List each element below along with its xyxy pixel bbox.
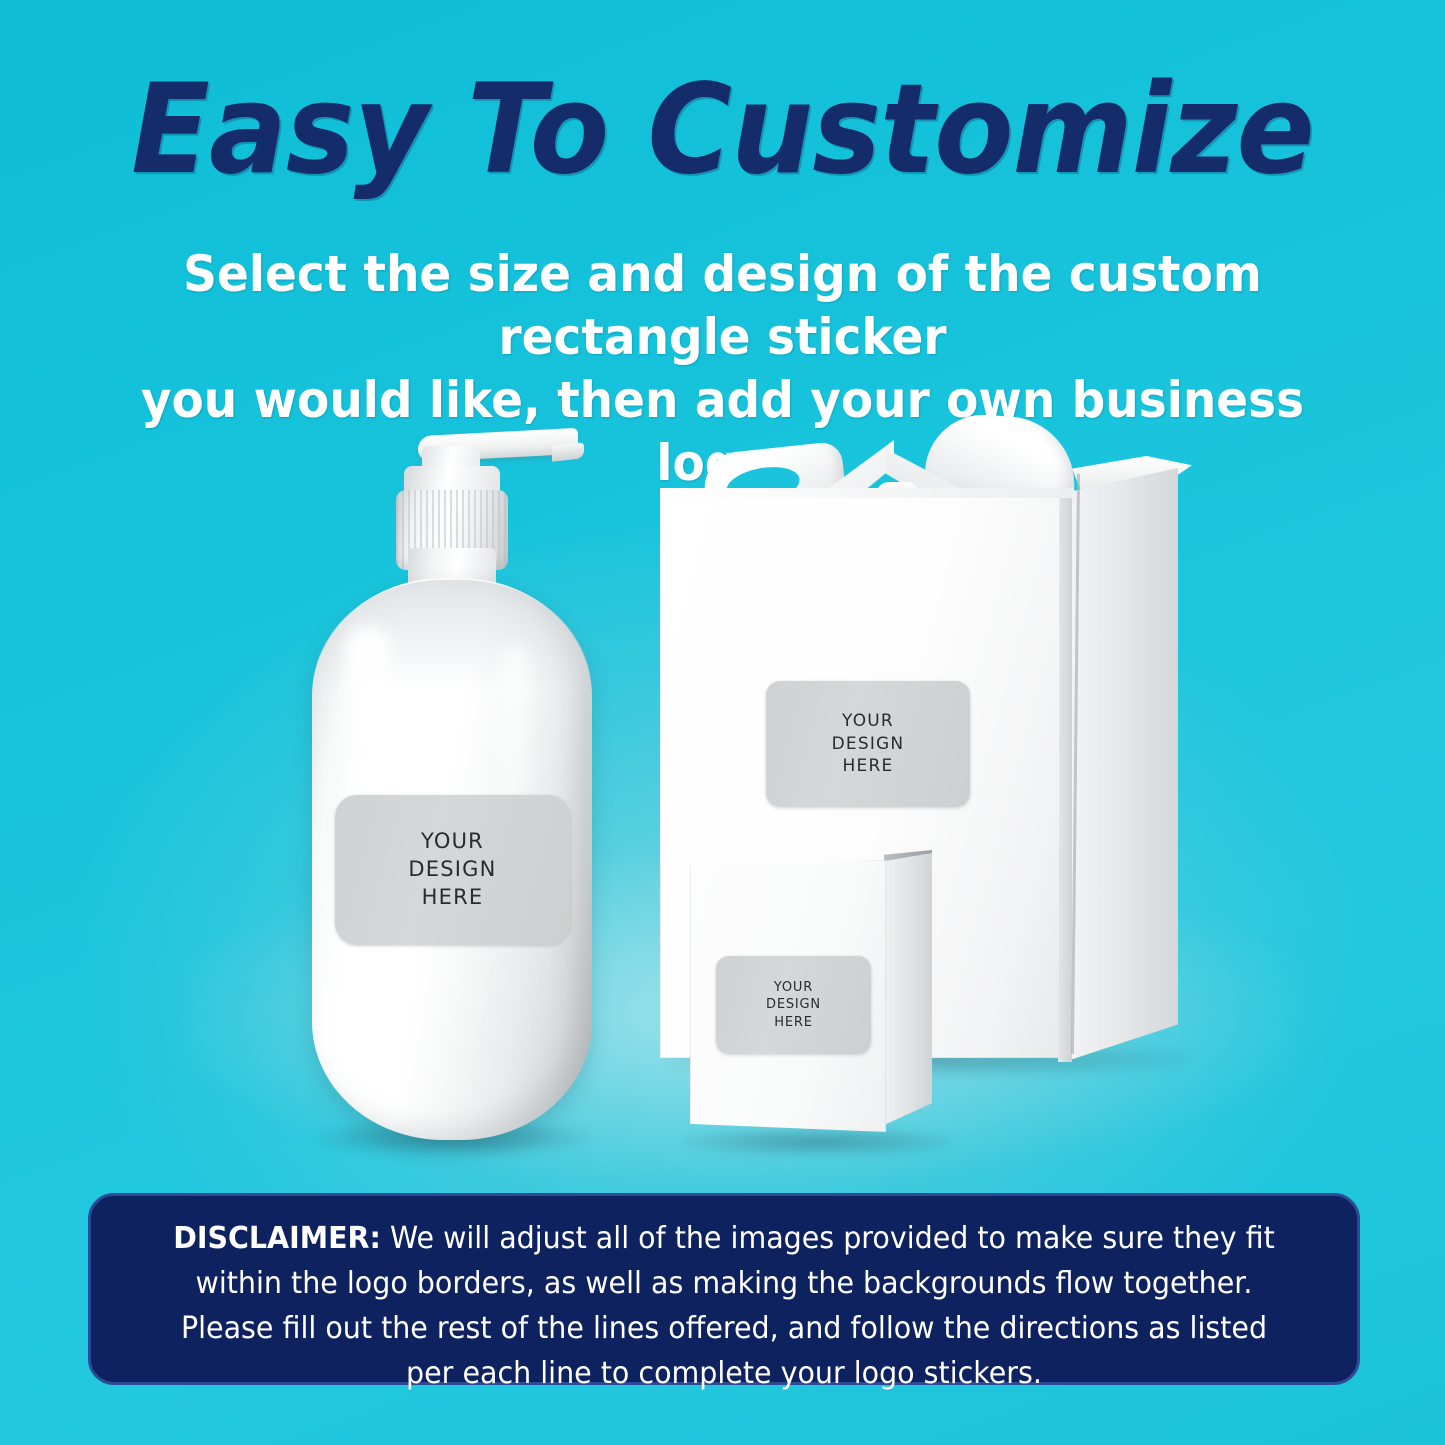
sticker-line-2: DESIGN [408,856,496,884]
disclaimer-label: DISCLAIMER: [173,1221,381,1256]
gift-box-lid-edge [1058,490,1072,1062]
page-title: Easy To Customize [51,58,1395,202]
gift-box-side-panel [1070,468,1178,1060]
sticker-bottle[interactable]: YOUR DESIGN HERE [335,795,570,945]
sticker-line-1: YOUR [766,979,821,996]
sticker-small-box[interactable]: YOUR DESIGN HERE [716,956,871,1054]
sticker-gift-box-text: YOUR DESIGN HERE [832,710,905,778]
promo-banner: Easy To Customize Select the size and de… [0,0,1445,1445]
small-box-side-panel [884,853,932,1125]
sticker-line-3: HERE [766,1014,821,1031]
disclaimer-box: DISCLAIMER: We will adjust all of the im… [88,1193,1360,1385]
sticker-line-2: DESIGN [766,996,821,1013]
sticker-line-3: HERE [832,755,905,778]
gift-box-top-edge [660,488,1074,498]
small-box-shadow [684,1128,952,1156]
sticker-line-1: YOUR [832,710,905,733]
product-scene [0,380,1445,1190]
sticker-line-2: DESIGN [832,733,905,756]
sticker-small-box-text: YOUR DESIGN HERE [766,979,821,1031]
sticker-line-1: YOUR [408,828,496,856]
sticker-line-3: HERE [408,884,496,912]
sticker-gift-box[interactable]: YOUR DESIGN HERE [766,681,970,807]
sticker-bottle-text: YOUR DESIGN HERE [408,828,496,912]
pump-nozzle-tip [552,442,584,461]
disclaimer-text: DISCLAIMER: We will adjust all of the im… [155,1216,1293,1396]
subtitle-line-1: Select the size and design of the custom… [109,243,1336,369]
